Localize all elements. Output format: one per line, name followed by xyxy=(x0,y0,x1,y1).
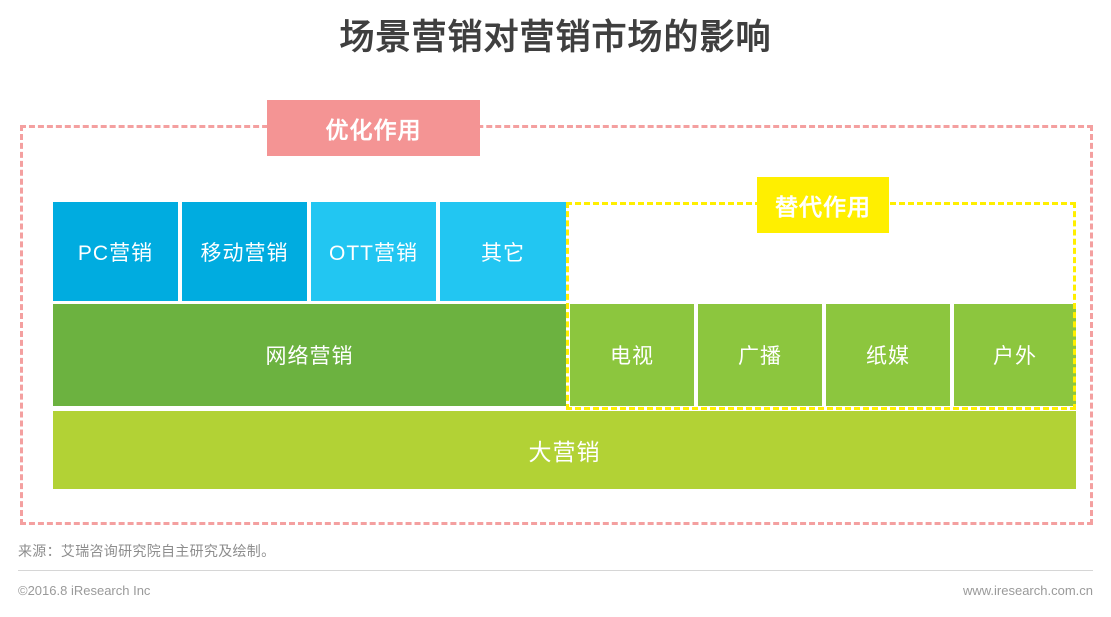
cell-other-marketing[interactable]: 其它 xyxy=(440,202,566,301)
cell-label: 移动营销 xyxy=(201,237,289,267)
copyright-text: ©2016.8 iResearch Inc xyxy=(18,583,150,598)
cell-label: PC营销 xyxy=(78,237,153,267)
cell-online-marketing[interactable]: 网络营销 xyxy=(53,304,566,406)
cell-label: 其它 xyxy=(481,237,525,267)
optimize-label-text: 优化作用 xyxy=(326,111,422,145)
replace-scope-frame xyxy=(566,202,1076,410)
cell-mobile-marketing[interactable]: 移动营销 xyxy=(182,202,307,301)
cell-label: 网络营销 xyxy=(266,340,354,370)
source-note: 来源：艾瑞咨询研究院自主研究及绘制。 xyxy=(18,541,275,561)
cell-pc-marketing[interactable]: PC营销 xyxy=(53,202,178,301)
replace-label-chip: 替代作用 xyxy=(757,177,889,233)
cell-label: 大营销 xyxy=(529,433,601,467)
digital-channels-row: PC营销 移动营销 OTT营销 其它 xyxy=(53,202,566,301)
cell-ott-marketing[interactable]: OTT营销 xyxy=(311,202,436,301)
grand-total-row: 大营销 xyxy=(53,411,1076,489)
cell-grand-marketing[interactable]: 大营销 xyxy=(53,411,1076,489)
cell-label: OTT营销 xyxy=(329,237,418,267)
optimize-label-chip: 优化作用 xyxy=(267,100,480,156)
footer-divider xyxy=(18,570,1093,571)
website-link[interactable]: www.iresearch.com.cn xyxy=(963,583,1093,598)
replace-label-text: 替代作用 xyxy=(775,188,871,222)
diagram-stage: 优化作用 替代作用 PC营销 移动营销 OTT营销 其它 网络营销 电视 广播 … xyxy=(0,0,1111,540)
